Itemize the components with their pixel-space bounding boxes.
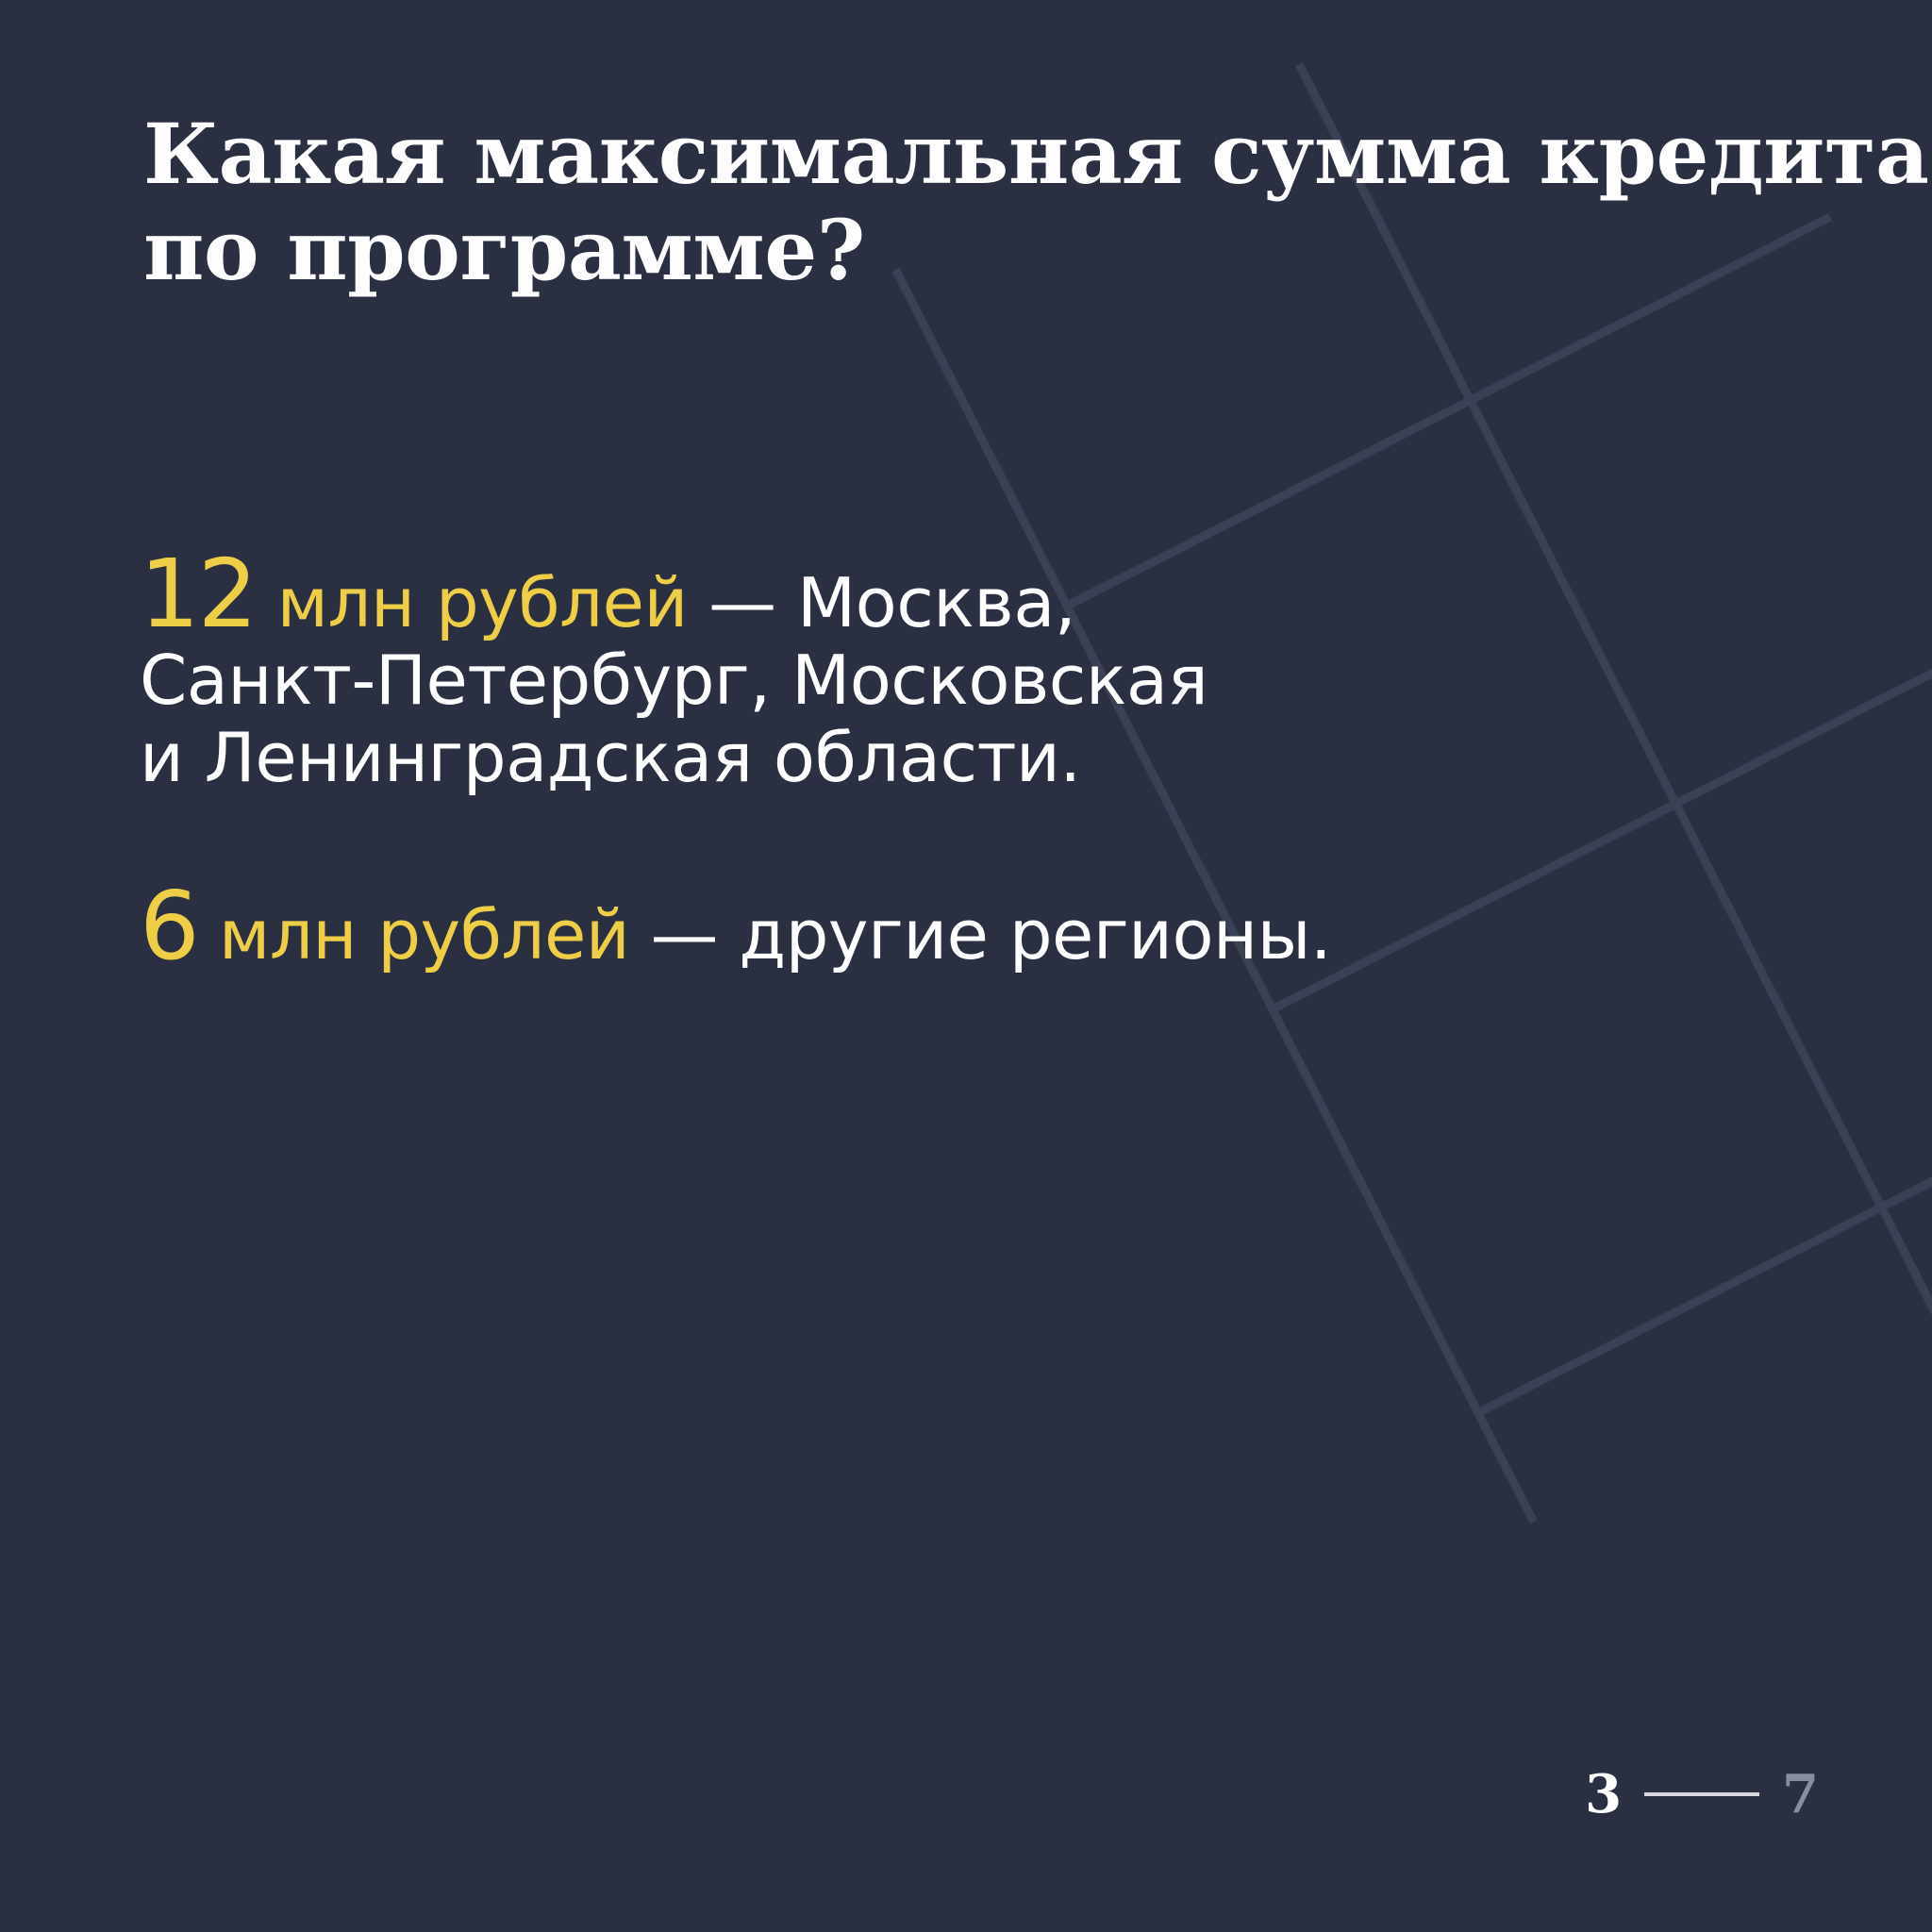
page-indicator-rule [1644,1792,1759,1796]
answer-item-1: 12 млн рублей — Москва, Санкт-Петербург,… [140,547,1649,796]
page-indicator-current: 3 [1585,1768,1622,1821]
answer-list: 12 млн рублей — Москва, Санкт-Петербург,… [140,547,1649,1057]
answer-2-description-line-1: другие регионы. [739,895,1331,974]
answer-1-amount: 12 [140,539,256,649]
page-title: Какая максимальная сумма кредита по прог… [143,106,1558,298]
answer-1-separator: — [708,563,776,642]
answer-2-separator: — [651,895,719,974]
answer-2-text: 6 млн рублей — другие регионы. [140,879,1649,974]
answer-1-description-line-2: Санкт-Петербург, Московская [140,641,1207,720]
page-indicator-total: 7 [1782,1768,1819,1821]
answer-2-unit: млн рублей [219,895,629,974]
slide-canvas: Какая максимальная сумма кредита по прог… [0,0,1932,1932]
page-indicator: 3 7 [1585,1768,1819,1821]
page-title-line-2: по программе? [143,202,1558,298]
page-title-line-1: Какая максимальная сумма кредита [143,106,1558,202]
answer-1-description-line-1: Москва, [797,563,1075,642]
answer-1-description-line-3: и Ленинградская области. [140,718,1081,797]
answer-2-amount: 6 [140,871,198,981]
answer-1-text: 12 млн рублей — Москва, Санкт-Петербург,… [140,547,1649,796]
answer-1-unit: млн рублей [277,563,688,642]
answer-item-2: 6 млн рублей — другие регионы. [140,879,1649,974]
